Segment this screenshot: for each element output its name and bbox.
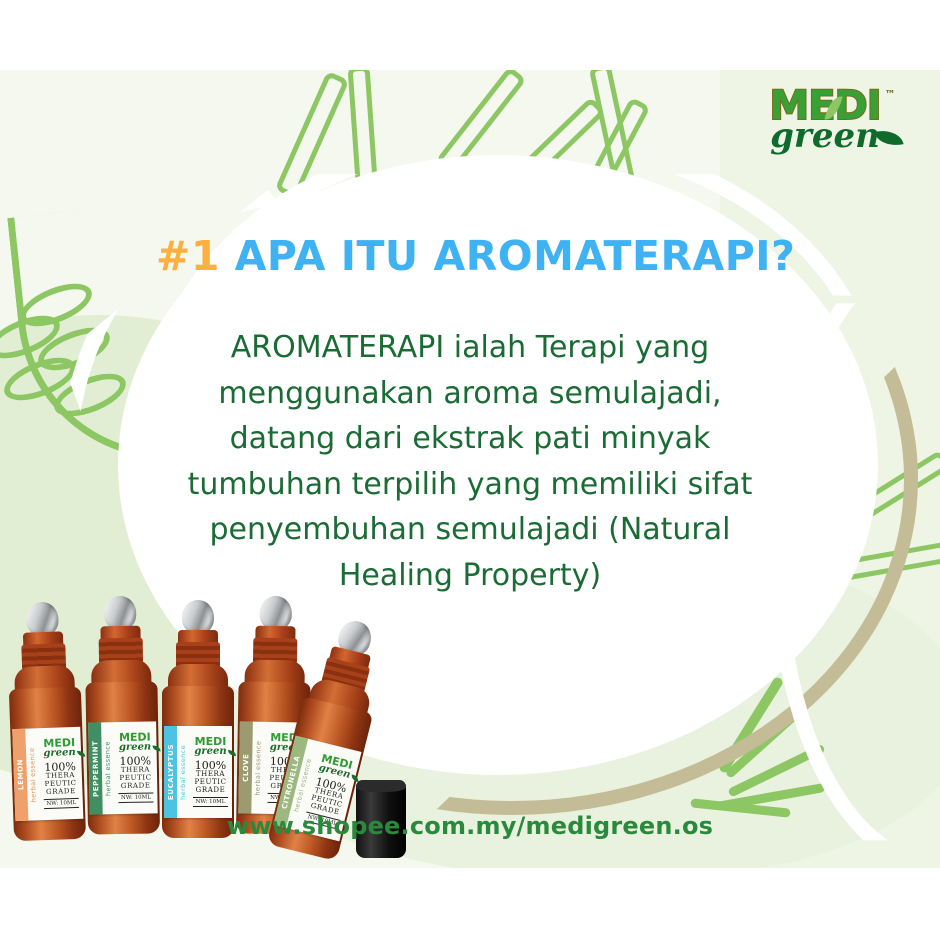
herbal-essence-label: herbal essence: [28, 747, 38, 802]
label-main: MEDI green 100% THERA PEUTIC GRADE NW: 1…: [189, 726, 232, 818]
body-line: Healing Property): [150, 553, 790, 599]
label-grade-line: GRADE: [120, 783, 152, 791]
label-main: MEDI green 100% THERA PEUTIC GRADE NW: 1…: [113, 721, 158, 814]
herbal-essence-text: herbal essence: [177, 726, 189, 818]
variant-name: EUCALYPTUS: [167, 744, 175, 800]
label-brand-green-text: green: [194, 746, 226, 757]
headline-number: #1: [156, 232, 220, 280]
label-grade: THERA PEUTIC GRADE: [44, 772, 77, 797]
brand-logo-green: green: [770, 120, 880, 152]
label-brand-green: green: [194, 747, 226, 757]
headline-text: APA ITU AROMATERAPI?: [235, 232, 796, 280]
product-bottle: EUCALYPTUS herbal essence MEDI green 100…: [158, 600, 238, 840]
bottle-label: EUCALYPTUS herbal essence MEDI green 100…: [164, 726, 232, 818]
roller-ball-icon: [182, 600, 214, 634]
label-brand-green: green: [43, 748, 76, 759]
body-line: tumbuhan terpilih yang memiliki sifat: [150, 462, 790, 508]
label-grade-line: GRADE: [45, 788, 77, 797]
herbal-essence-label: herbal essence: [254, 740, 263, 795]
label-grade-line: GRADE: [194, 787, 226, 795]
label-grade: THERA PEUTIC GRADE: [119, 767, 152, 791]
variant-name: PEPPERMINT: [91, 740, 100, 797]
product-bottle: LEMON herbal essence MEDI green 100% THE…: [2, 601, 90, 844]
body-line: penyembuhan semulajadi (Natural: [150, 507, 790, 553]
bottle-label: PEPPERMINT herbal essence MEDI green 100…: [88, 721, 158, 814]
bottle-cap-top: [356, 780, 406, 792]
page-title: #1 APA ITU AROMATERAPI?: [156, 232, 795, 280]
product-bottle: PEPPERMINT herbal essence MEDI green 100…: [80, 595, 164, 836]
shop-url[interactable]: www.shopee.com.my/medigreen.os: [0, 812, 940, 840]
variant-name: LEMON: [16, 759, 25, 790]
label-volume: NW: 10ML: [118, 792, 154, 803]
trademark-symbol: ™: [885, 90, 895, 100]
label-volume: NW: 10ML: [43, 798, 79, 809]
brand-logo-green-text: green: [770, 116, 880, 156]
variant-stripe: EUCALYPTUS: [164, 726, 177, 818]
label-grade: THERA PEUTIC GRADE: [194, 771, 226, 794]
label-main: MEDI green 100% THERA PEUTIC GRADE NW: 1…: [37, 727, 83, 820]
label-brand-green-text: green: [43, 747, 76, 759]
variant-name: CLOVE: [241, 753, 249, 781]
herbal-essence-label: herbal essence: [179, 745, 187, 800]
poster-canvas: MEDI ™ green #1 APA ITU AROMATERAPI? ARO…: [0, 0, 940, 940]
body-line: AROMATERAPI ialah Terapi yang: [150, 325, 790, 371]
body-line: datang dari ekstrak pati minyak: [150, 416, 790, 462]
label-brand-green: green: [119, 743, 151, 754]
bottle-label: LEMON herbal essence MEDI green 100% THE…: [12, 727, 83, 821]
label-volume: NW: 10ML: [193, 797, 229, 807]
label-brand-green-text: green: [119, 742, 151, 754]
body-copy: AROMATERAPI ialah Terapi yang menggunaka…: [150, 325, 790, 599]
brand-logo: MEDI ™ green: [750, 88, 900, 168]
body-line: menggunakan aroma semulajadi,: [150, 371, 790, 417]
herbal-essence-label: herbal essence: [103, 741, 112, 796]
